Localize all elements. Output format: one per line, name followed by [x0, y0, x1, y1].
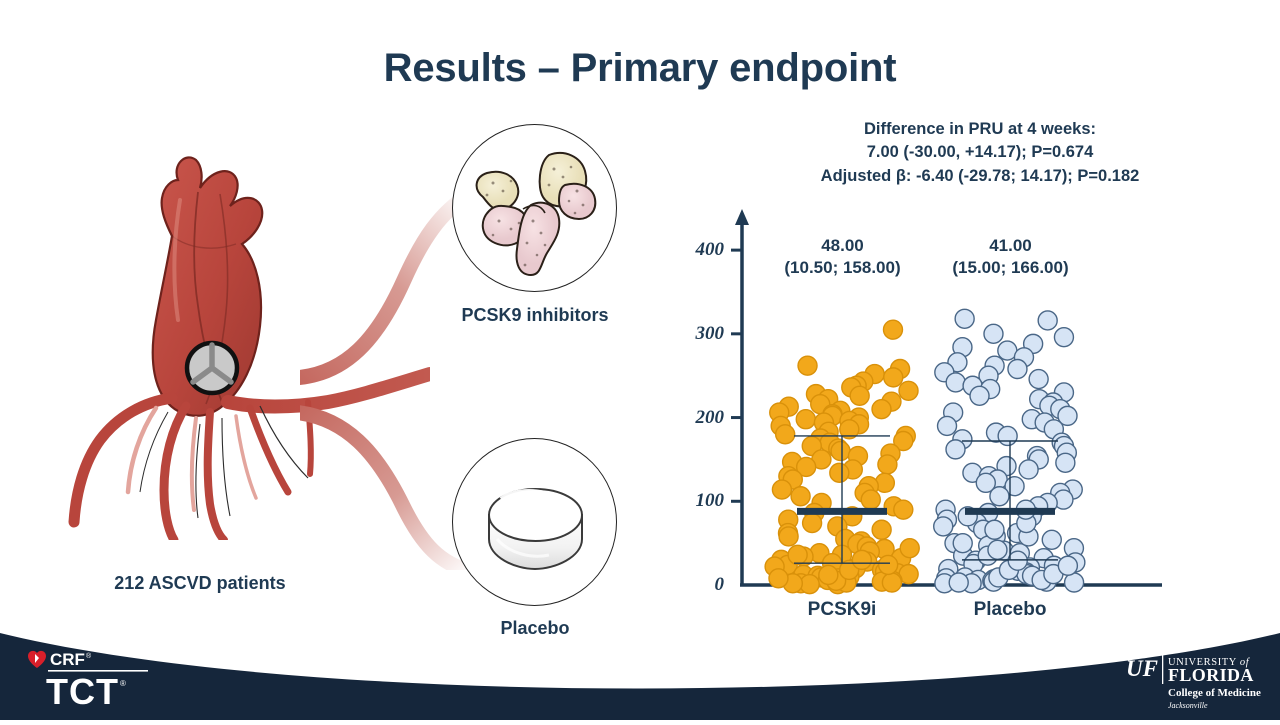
svg-text:®: ®: [120, 679, 126, 688]
university-of-florida-logo: UF UNIVERSITY of FLORIDA College of Medi…: [1124, 650, 1264, 710]
data-point: [883, 320, 902, 339]
data-point: [985, 520, 1004, 539]
y-tick-label: 300: [676, 323, 724, 345]
patients-count-label: 212 ASCVD patients: [70, 573, 330, 594]
data-point: [938, 416, 957, 435]
pcsk9-inhibitor-circle: [452, 124, 617, 292]
data-point: [949, 573, 968, 592]
iqr-value: (15.00; 166.00): [923, 257, 1098, 279]
uf-monogram: UF: [1126, 656, 1158, 681]
data-point: [878, 455, 897, 474]
data-point: [894, 500, 913, 519]
data-point: [879, 555, 898, 574]
stats-line-1: Difference in PRU at 4 weeks:: [700, 118, 1260, 141]
dot-group-placebo: [934, 309, 1085, 593]
data-point: [1056, 453, 1075, 472]
stats-line-2: 7.00 (-30.00, +14.17); P=0.674: [700, 141, 1260, 164]
iqr-value: (10.50; 158.00): [755, 257, 930, 279]
data-point: [779, 527, 798, 546]
svg-text:Jacksonville: Jacksonville: [1168, 701, 1208, 710]
data-point: [819, 565, 838, 584]
data-point: [788, 545, 807, 564]
dot-plot-chart: 0100200300400 PCSK9iPlacebo 48.00(10.50;…: [670, 195, 1180, 615]
data-point: [872, 400, 891, 419]
statistics-summary: Difference in PRU at 4 weeks: 7.00 (-30.…: [700, 118, 1260, 188]
data-point: [1054, 328, 1073, 347]
y-tick-label: 100: [676, 490, 724, 512]
data-point: [1038, 311, 1057, 330]
svg-text:FLORIDA: FLORIDA: [1168, 665, 1254, 685]
data-point: [984, 324, 1003, 343]
median-value: 48.00: [755, 235, 930, 257]
data-point: [1008, 551, 1027, 570]
data-point: [798, 356, 817, 375]
data-point: [1008, 360, 1027, 379]
crf-tct-logo: CRF ® TCT ®: [24, 648, 174, 706]
data-point: [946, 373, 965, 392]
data-point: [1029, 370, 1048, 389]
data-point: [1042, 530, 1061, 549]
data-point: [1019, 460, 1038, 479]
svg-text:®: ®: [86, 652, 92, 660]
data-point: [791, 487, 810, 506]
data-point: [882, 573, 901, 592]
data-point: [803, 514, 822, 533]
platelet-inset-icon: [187, 343, 237, 393]
stats-line-3: Adjusted β: -6.40 (-29.78; 14.17); P=0.1…: [700, 165, 1260, 188]
data-point: [946, 440, 965, 459]
footer-bar: [0, 615, 1280, 720]
data-point: [796, 410, 815, 429]
placebo-tablet-icon: [453, 439, 618, 607]
svg-text:College of Medicine: College of Medicine: [1168, 687, 1261, 699]
y-tick-label: 200: [676, 407, 724, 429]
data-point: [990, 487, 1009, 506]
monoclonal-antibody-molecule-icon: [453, 125, 618, 293]
data-point: [998, 426, 1017, 445]
y-tick-label: 0: [676, 574, 724, 596]
data-point: [830, 463, 849, 482]
crf-wordmark: CRF: [50, 650, 85, 669]
data-point: [934, 517, 953, 536]
data-point: [953, 534, 972, 553]
data-point: [831, 442, 850, 461]
data-point: [772, 480, 791, 499]
data-point: [900, 539, 919, 558]
y-tick-label: 400: [676, 239, 724, 261]
data-point: [800, 575, 819, 594]
median-annotation-pcsk9i: 48.00(10.50; 158.00): [755, 235, 930, 279]
pcsk9-inhibitor-label: PCSK9 inhibitors: [405, 305, 665, 326]
data-point: [1058, 556, 1077, 575]
median-annotation-placebo: 41.00(15.00; 166.00): [923, 235, 1098, 279]
data-point: [852, 550, 871, 569]
page-title: Results – Primary endpoint: [0, 46, 1280, 91]
data-point: [970, 386, 989, 405]
data-point: [955, 309, 974, 328]
data-point: [850, 386, 869, 405]
data-point: [776, 425, 795, 444]
slide-root: Results – Primary endpoint: [0, 0, 1280, 720]
data-point: [988, 540, 1007, 559]
tct-wordmark: TCT: [46, 671, 119, 706]
data-point: [861, 490, 880, 509]
data-point: [884, 368, 903, 387]
data-point: [769, 569, 788, 588]
data-point: [899, 381, 918, 400]
data-point: [872, 520, 891, 539]
median-value: 41.00: [923, 235, 1098, 257]
placebo-circle: [452, 438, 617, 606]
